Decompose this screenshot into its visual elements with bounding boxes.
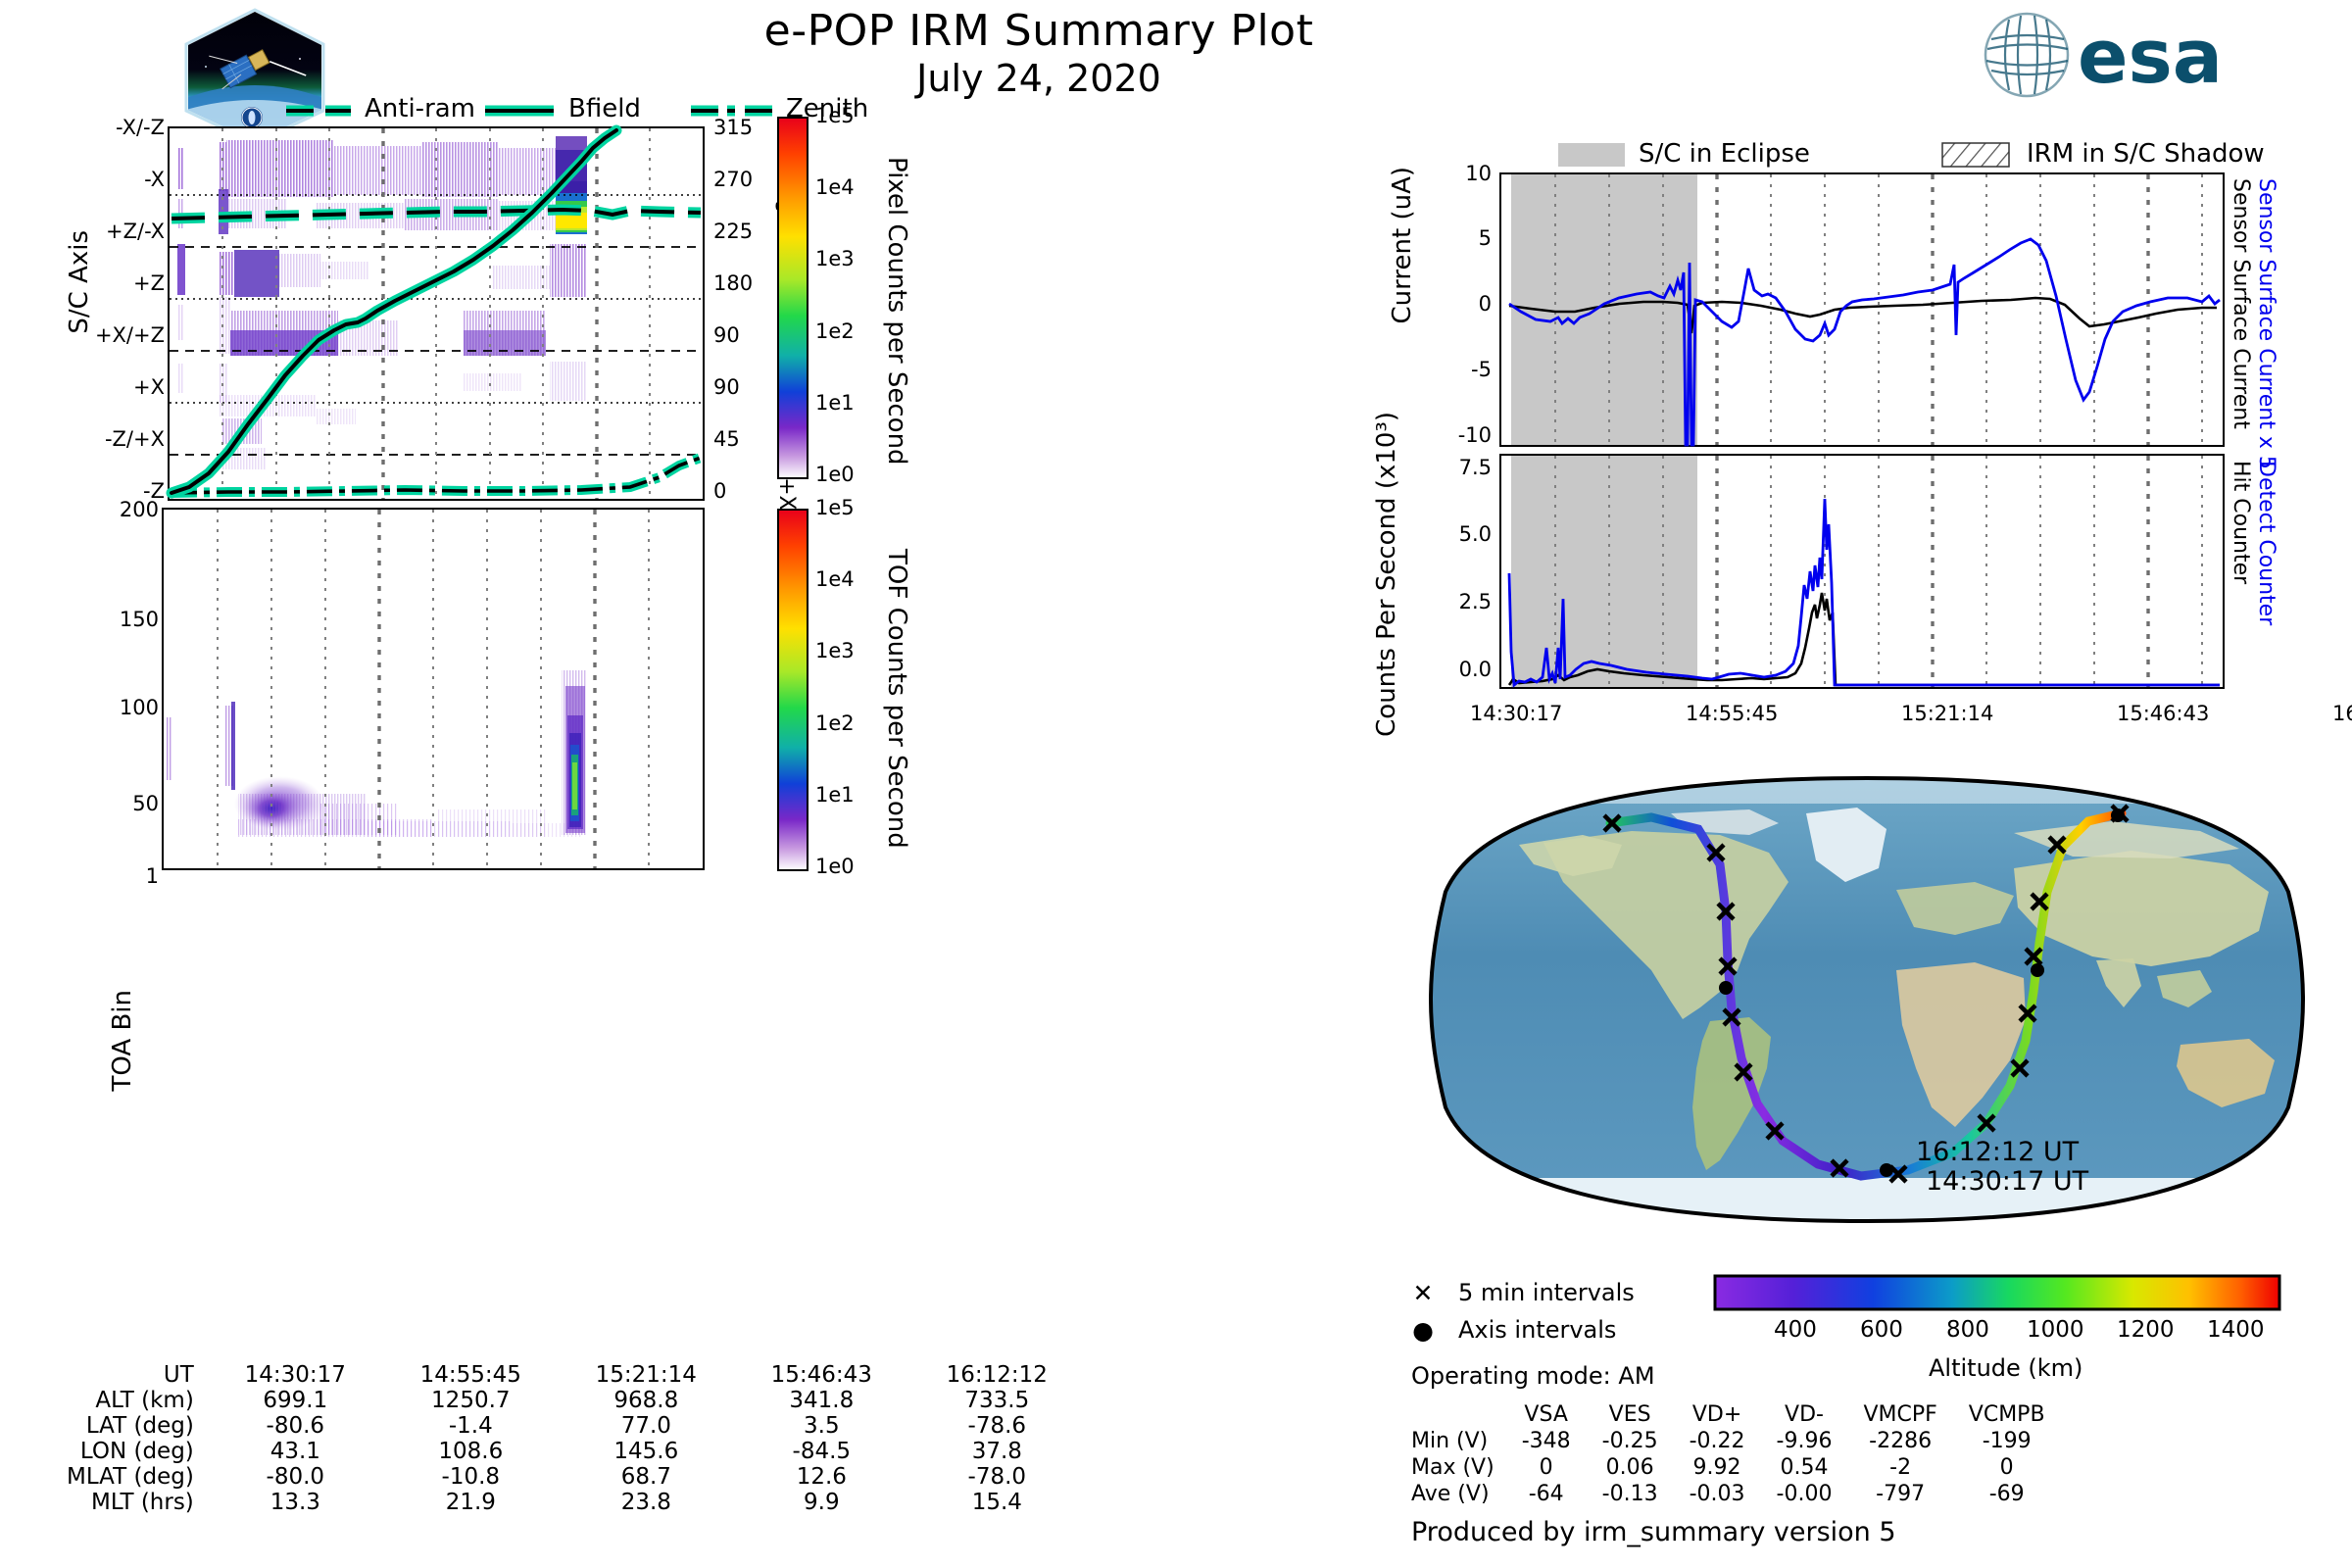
current-right-label-black: Sensor Surface Current: [2229, 178, 2253, 429]
table-cell: 1250.7: [383, 1388, 559, 1413]
dot-marker-icon: ●: [1411, 1316, 1435, 1345]
cross-marker-label: 5 min intervals: [1458, 1279, 1635, 1306]
table-row: UT14:30:1714:55:4515:21:1415:46:4316:12:…: [65, 1362, 1085, 1388]
voltage-corner: [1411, 1401, 1506, 1428]
table-cell: 14:55:45: [383, 1362, 559, 1388]
cross-marker-icon: ✕: [1411, 1279, 1435, 1307]
table-row: Ave (V)-64-0.13-0.03-0.00-797-69: [1411, 1481, 2061, 1507]
voltage-column-header: VMCPF: [1847, 1401, 1952, 1428]
table-cell: -0.25: [1587, 1428, 1674, 1454]
footer-text: Produced by irm_summary version 5: [1411, 1517, 1896, 1547]
map-marker-legend: ✕ 5 min intervals ● Axis intervals: [1411, 1274, 1744, 1348]
legend-swatch-shadow: [1942, 143, 2009, 167]
table-cell: 108.6: [383, 1439, 559, 1464]
row-label: Min (V): [1411, 1428, 1506, 1454]
table-cell: -348: [1506, 1428, 1587, 1454]
table-cell: -199: [1953, 1428, 2061, 1454]
table-cell: -797: [1847, 1481, 1952, 1507]
altitude-colorbar: [1713, 1274, 2281, 1313]
voltage-column-header: VD-: [1761, 1401, 1848, 1428]
row-label: ALT (km): [65, 1388, 208, 1413]
table-cell: 9.92: [1674, 1454, 1761, 1481]
page-title: e-POP IRM Summary Plot: [549, 6, 1529, 56]
map-start-time: 14:30:17 UT: [1926, 1166, 2089, 1197]
table-cell: 0: [1953, 1454, 2061, 1481]
table-cell: 0.54: [1761, 1454, 1848, 1481]
ephemeris-table: UT14:30:1714:55:4515:21:1415:46:4316:12:…: [65, 1362, 1085, 1515]
table-row: LAT (deg)-80.6-1.477.03.5-78.6: [65, 1413, 1085, 1439]
row-label: Max (V): [1411, 1454, 1506, 1481]
current-plot[interactable]: [1499, 172, 2225, 447]
legend-swatch-eclipse: [1558, 143, 1625, 167]
time-tick: 15:46:43: [2117, 702, 2209, 725]
altitude-colorbar-label: Altitude (km): [1929, 1354, 2082, 1382]
table-cell: -78.0: [909, 1464, 1085, 1490]
eclipse-shade-counts: [1511, 456, 1697, 687]
esa-logo: esa: [1980, 10, 2332, 100]
time-tick: 15:21:14: [1901, 702, 1993, 725]
table-cell: 9.9: [734, 1490, 909, 1515]
current-right-label-blue: Sensor Surface Current x 5: [2254, 178, 2278, 469]
legend-label-eclipse: S/C in Eclipse: [1639, 139, 1810, 169]
table-cell: -0.03: [1674, 1481, 1761, 1507]
row-label: LAT (deg): [65, 1413, 208, 1439]
voltage-column-header: VCMPB: [1953, 1401, 2061, 1428]
legend-right: S/C in Eclipse IRM in S/C Shadow: [1558, 139, 2323, 171]
legend-label-shadow: IRM in S/C Shadow: [2027, 139, 2265, 169]
row-label: MLAT (deg): [65, 1464, 208, 1490]
table-cell: 145.6: [559, 1439, 734, 1464]
table-cell: -2286: [1847, 1428, 1952, 1454]
pixel-counts-colorbar-label: Pixel Counts per Second: [882, 157, 911, 465]
voltage-column-header: VES: [1587, 1401, 1674, 1428]
counts-right-label-blue: Detect Counter: [2254, 461, 2278, 625]
table-cell: 12.6: [734, 1464, 909, 1490]
table-cell: -10.8: [383, 1464, 559, 1490]
row-label: LON (deg): [65, 1439, 208, 1464]
operating-mode: Operating mode: AM: [1411, 1362, 1655, 1390]
counts-right-label-black: Hit Counter: [2229, 461, 2253, 584]
sc-axis-right-tick-labels: 315 270 225 180 90 90 45 0: [713, 127, 782, 500]
current-ylabel: Current (uA): [1388, 167, 1417, 323]
time-tick: 14:55:45: [1686, 702, 1778, 725]
voltage-table-body: VSAVESVD+VD-VMCPFVCMPB Min (V)-348-0.25-…: [1411, 1401, 2061, 1507]
current-ytick-labels: 10 5 0 -5 -10: [1423, 174, 1492, 441]
altitude-tick: 600: [1860, 1317, 1903, 1343]
sc-axis-ytick-labels: -X/-Z -X +Z/-X +Z +X/+Z +X -Z/+X -Z: [98, 127, 165, 490]
row-label: MLT (hrs): [65, 1490, 208, 1515]
row-label: UT: [65, 1362, 208, 1388]
altitude-tick: 1400: [2207, 1317, 2265, 1343]
table-cell: -84.5: [734, 1439, 909, 1464]
toa-ytick-labels: 200 150 100 50 1: [88, 510, 159, 1362]
tof-counts-colorbar-label: TOF Counts per Second: [882, 549, 911, 849]
table-cell: 15:21:14: [559, 1362, 734, 1388]
table-cell: 733.5: [909, 1388, 1085, 1413]
table-cell: 968.8: [559, 1388, 734, 1413]
table-cell: 699.1: [208, 1388, 383, 1413]
table-cell: -2: [1847, 1454, 1952, 1481]
table-cell: -80.6: [208, 1413, 383, 1439]
table-row: ALT (km)699.11250.7968.8341.8733.5: [65, 1388, 1085, 1413]
table-cell: 15:46:43: [734, 1362, 909, 1388]
table-cell: -69: [1953, 1481, 2061, 1507]
table-cell: -0.00: [1761, 1481, 1848, 1507]
table-cell: -0.22: [1674, 1428, 1761, 1454]
tof-counts-colorbar: [774, 508, 811, 872]
counts-ytick-labels: 7.5 5.0 2.5 0.0: [1423, 468, 1492, 686]
table-cell: -0.13: [1587, 1481, 1674, 1507]
ground-track-map[interactable]: 16:12:12 UT 14:30:17 UT: [1426, 774, 2308, 1225]
toa-bin-plot[interactable]: [162, 508, 705, 870]
table-cell: 341.8: [734, 1388, 909, 1413]
ephemeris-table-body: UT14:30:1714:55:4515:21:1415:46:4316:12:…: [65, 1362, 1085, 1515]
map-end-time: 16:12:12 UT: [1916, 1137, 2080, 1167]
altitude-tick: 1200: [2117, 1317, 2175, 1343]
row-label: Ave (V): [1411, 1481, 1506, 1507]
table-cell: -9.96: [1761, 1428, 1848, 1454]
altitude-tick: 800: [1946, 1317, 1989, 1343]
altitude-colorbar-ticks: 400 600 800 1000 1200 1400: [1713, 1317, 2301, 1348]
table-cell: -64: [1506, 1481, 1587, 1507]
legend-label-anti-ram: Anti-ram: [365, 94, 475, 123]
table-cell: 68.7: [559, 1464, 734, 1490]
table-cell: 15.4: [909, 1490, 1085, 1515]
altitude-tick: 1000: [2027, 1317, 2084, 1343]
table-cell: -80.0: [208, 1464, 383, 1490]
dot-marker-label: Axis intervals: [1458, 1316, 1616, 1344]
pixel-counts-colorbar: [774, 116, 811, 480]
table-cell: 77.0: [559, 1413, 734, 1439]
table-cell: 16:12:12: [909, 1362, 1085, 1388]
table-cell: 13.3: [208, 1490, 383, 1515]
legend-label-bfield: Bfield: [568, 94, 641, 123]
table-cell: 3.5: [734, 1413, 909, 1439]
table-row: Max (V)00.069.920.54-20: [1411, 1454, 2061, 1481]
right-time-axis: 14:30:17 14:55:45 15:21:14 15:46:43 16:1…: [1411, 702, 2332, 735]
counts-plot[interactable]: [1499, 454, 2225, 689]
table-cell: 0: [1506, 1454, 1587, 1481]
table-row: LON (deg)43.1108.6145.6-84.537.8: [65, 1439, 1085, 1464]
voltage-column-header: VSA: [1506, 1401, 1587, 1428]
table-row: MLAT (deg)-80.0-10.868.712.6-78.0: [65, 1464, 1085, 1490]
table-cell: 37.8: [909, 1439, 1085, 1464]
voltage-table: VSAVESVD+VD-VMCPFVCMPB Min (V)-348-0.25-…: [1411, 1401, 2061, 1507]
table-cell: 23.8: [559, 1490, 734, 1515]
table-row: Min (V)-348-0.25-0.22-9.96-2286-199: [1411, 1428, 2061, 1454]
svg-text:esa: esa: [2078, 13, 2223, 100]
table-cell: 43.1: [208, 1439, 383, 1464]
sc-axis-plot[interactable]: [168, 126, 705, 501]
time-tick: 16:12:12: [2332, 702, 2352, 725]
table-row: MLT (hrs)13.321.923.89.915.4: [65, 1490, 1085, 1515]
table-cell: 0.06: [1587, 1454, 1674, 1481]
altitude-tick: 400: [1774, 1317, 1817, 1343]
sc-axis-ylabel: S/C Axis: [65, 230, 94, 334]
voltage-column-header: VD+: [1674, 1401, 1761, 1428]
table-cell: 21.9: [383, 1490, 559, 1515]
table-cell: 14:30:17: [208, 1362, 383, 1388]
table-cell: -1.4: [383, 1413, 559, 1439]
table-cell: -78.6: [909, 1413, 1085, 1439]
time-tick: 14:30:17: [1470, 702, 1562, 725]
